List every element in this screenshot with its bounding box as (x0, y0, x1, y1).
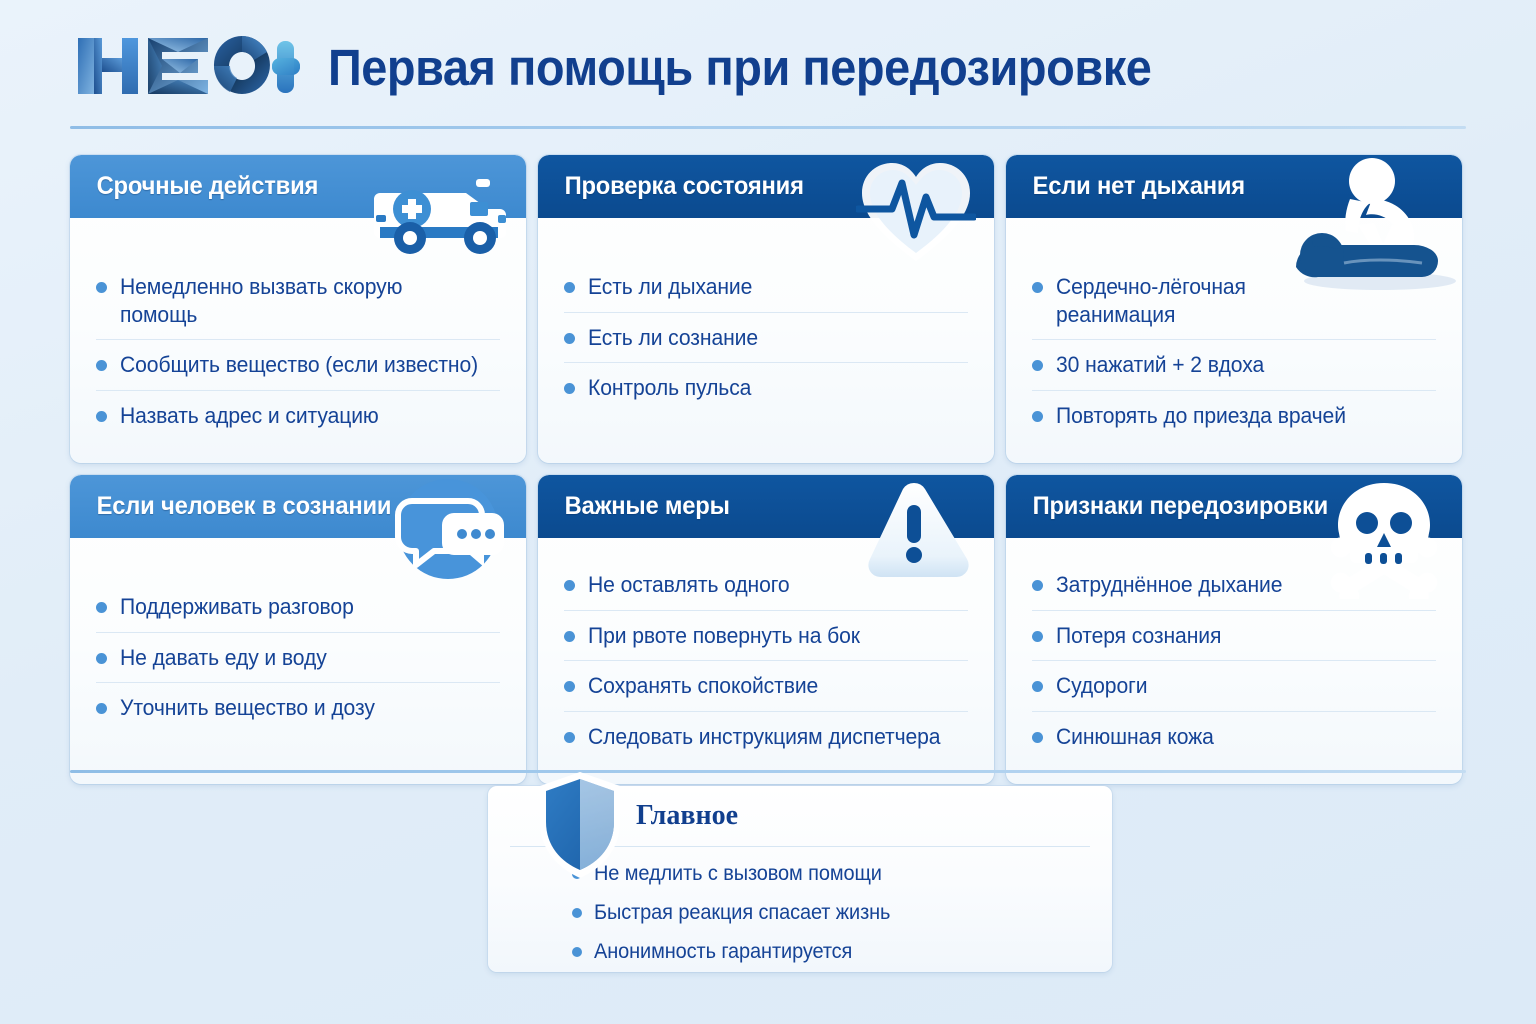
bullet-icon (572, 908, 582, 918)
card-header: Срочные действия (70, 155, 526, 218)
bullet-icon (564, 681, 575, 692)
list-item-label: Быстрая реакция спасает жизнь (594, 901, 890, 925)
logo-letter-n (78, 38, 138, 94)
card-header: Если нет дыхания (1006, 155, 1462, 218)
list-item-label: Поддерживать разговор (120, 593, 354, 621)
card-body: Поддерживать разговор Не давать еду и во… (70, 538, 526, 778)
bullet-icon (96, 653, 107, 664)
list-item: Сохранять спокойствие (564, 661, 968, 712)
page-header: Первая помощь при передозировке (0, 0, 1536, 130)
list-item-label: Следовать инструкциям диспетчера (588, 723, 940, 751)
list-item: Не давать еду и воду (96, 633, 500, 684)
footer-panel-key-points[interactable]: Главное Не медлить с вызовом помощи Быст… (488, 786, 1112, 972)
bullet-icon (96, 360, 107, 371)
list-item-label: Не давать еду и воду (120, 644, 327, 672)
list-item-label: Потеря сознания (1056, 622, 1221, 650)
list-item-label: Уточнить вещество и дозу (120, 694, 375, 722)
list-item-label: Немедленно вызвать скорую помощь (120, 273, 485, 328)
list-item-label: 30 нажатий + 2 вдоха (1056, 351, 1264, 379)
bullet-icon (96, 703, 107, 714)
bullet-icon (1032, 631, 1043, 642)
list-item-label: Не медлить с вызовом помощи (594, 862, 882, 886)
bullet-icon (1032, 681, 1043, 692)
list-item-label: Сердечно-лёгочная реанимация (1056, 273, 1296, 328)
list-item: Назвать адрес и ситуацию (96, 391, 500, 441)
card-title: Важные меры (538, 492, 730, 521)
list-item: Сердечно-лёгочная реанимация (1032, 262, 1436, 340)
card-header: Признаки передозировки (1006, 475, 1462, 538)
card-body: Немедленно вызвать скорую помощь Сообщит… (70, 218, 526, 463)
card-title: Признаки передозировки (1006, 492, 1328, 521)
logo-letter-o (214, 36, 270, 94)
list-item: 30 нажатий + 2 вдоха (1032, 340, 1436, 391)
bullet-icon (1032, 580, 1043, 591)
bullet-icon (96, 411, 107, 422)
card-no-breathing[interactable]: Если нет дыхания (1006, 155, 1462, 463)
card-body: Есть ли дыхание Есть ли сознание Контрол… (538, 218, 994, 443)
list-item: Сообщить вещество (если известно) (96, 340, 500, 391)
list-item-label: Есть ли дыхание (588, 273, 752, 301)
card-header: Если человек в сознании (70, 475, 526, 538)
list-item-label: Контроль пульса (588, 374, 751, 402)
card-header: Проверка состояния (538, 155, 994, 218)
list-item: Потеря сознания (1032, 611, 1436, 662)
card-condition-check[interactable]: Проверка состояния Есть ли дыхание (538, 155, 994, 463)
list-item: Немедленно вызвать скорую помощь (96, 262, 500, 340)
list-item: Повторять до приезда врачей (1032, 391, 1436, 441)
list-item-label: Синюшная кожа (1056, 723, 1214, 751)
card-grid: Срочные действия (70, 155, 1470, 784)
card-important-measures[interactable]: Важные меры (538, 475, 994, 784)
card-title: Если человек в сознании (70, 492, 391, 521)
bullet-icon (564, 580, 575, 591)
bullet-icon (1032, 411, 1043, 422)
header-divider-rule (70, 126, 1466, 129)
list-item: Контроль пульса (564, 363, 968, 413)
card-row-1: Срочные действия (70, 155, 1470, 463)
bullet-icon (96, 602, 107, 613)
card-urgent-actions[interactable]: Срочные действия (70, 155, 526, 463)
list-item: Анонимность гарантируется (572, 932, 1092, 971)
card-body: Сердечно-лёгочная реанимация 30 нажатий … (1006, 218, 1462, 463)
logo-letter-e (148, 38, 208, 94)
card-body: Затруднённое дыхание Потеря сознания Суд… (1006, 538, 1462, 784)
list-item: Есть ли дыхание (564, 262, 968, 313)
card-if-conscious[interactable]: Если человек в сознании Поддерживать р (70, 475, 526, 784)
bullet-icon (572, 947, 582, 957)
bullet-icon (564, 732, 575, 743)
list-item: Судороги (1032, 661, 1436, 712)
list-item: При рвоте повернуть на бок (564, 611, 968, 662)
page-title: Первая помощь при передозировке (328, 38, 1151, 97)
logo-svg (72, 30, 302, 102)
list-item-label: При рвоте повернуть на бок (588, 622, 860, 650)
card-overdose-signs[interactable]: Признаки передозировки (1006, 475, 1462, 784)
list-item: Уточнить вещество и дозу (96, 683, 500, 733)
neo-plus-logo (72, 30, 302, 102)
bullet-icon (1032, 360, 1043, 371)
list-item: Быстрая реакция спасает жизнь (572, 893, 1092, 932)
logo-plus (272, 41, 300, 93)
bullet-icon (1032, 282, 1043, 293)
card-body: Не оставлять одного При рвоте повернуть … (538, 538, 994, 784)
list-item-label: Не оставлять одного (588, 571, 790, 599)
bullet-icon (1032, 732, 1043, 743)
list-item-label: Затруднённое дыхание (1056, 571, 1282, 599)
list-item: Не оставлять одного (564, 560, 968, 611)
bullet-icon (96, 282, 107, 293)
list-item-label: Повторять до приезда врачей (1056, 402, 1346, 430)
list-item: Есть ли сознание (564, 313, 968, 364)
list-item-label: Судороги (1056, 672, 1147, 700)
shield-icon (532, 768, 628, 887)
footer-divider-rule (70, 770, 1466, 773)
list-item: Не медлить с вызовом помощи (572, 854, 1092, 893)
footer-title: Главное (636, 800, 738, 832)
list-item: Синюшная кожа (1032, 712, 1436, 762)
card-row-2: Если человек в сознании Поддерживать р (70, 475, 1470, 784)
list-item-label: Сохранять спокойствие (588, 672, 818, 700)
list-item-label: Анонимность гарантируется (594, 940, 852, 964)
list-item-label: Назвать адрес и ситуацию (120, 402, 379, 430)
list-item-label: Есть ли сознание (588, 324, 758, 352)
bullet-icon (564, 333, 575, 344)
footer-list: Не медлить с вызовом помощи Быстрая реак… (572, 854, 1092, 971)
list-item: Поддерживать разговор (96, 582, 500, 633)
list-item-label: Сообщить вещество (если известно) (120, 351, 478, 379)
bullet-icon (564, 631, 575, 642)
card-title: Проверка состояния (538, 172, 804, 201)
bullet-icon (564, 383, 575, 394)
list-item: Затруднённое дыхание (1032, 560, 1436, 611)
list-item: Следовать инструкциям диспетчера (564, 712, 968, 762)
bullet-icon (564, 282, 575, 293)
card-title: Срочные действия (70, 172, 318, 201)
card-header: Важные меры (538, 475, 994, 538)
card-title: Если нет дыхания (1006, 172, 1245, 201)
